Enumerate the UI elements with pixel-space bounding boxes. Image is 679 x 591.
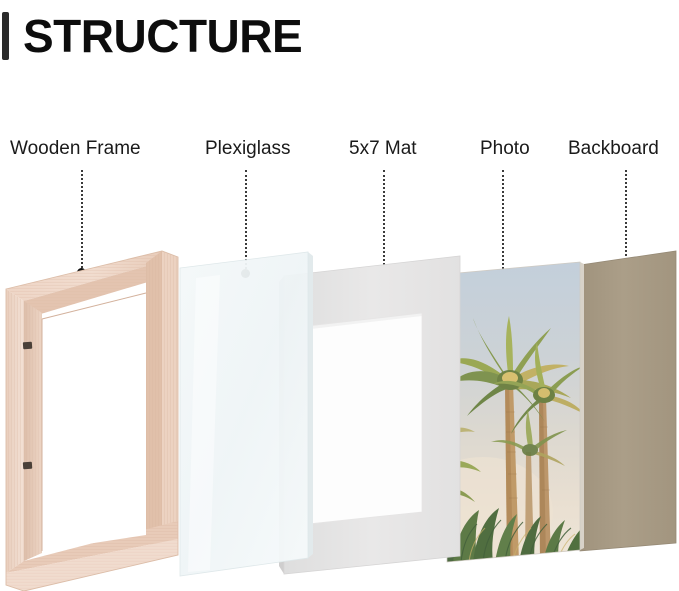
label-backboard: Backboard: [568, 139, 659, 158]
layer-backboard: [570, 251, 679, 568]
label-plexiglass: Plexiglass: [205, 139, 291, 158]
layer-plexiglass: [176, 252, 316, 591]
title-label: STRUCTURE: [23, 13, 302, 59]
layer-photo: [443, 262, 584, 571]
label-wooden-frame: Wooden Frame: [10, 139, 141, 158]
label-mat: 5x7 Mat: [349, 139, 417, 158]
label-photo: Photo: [480, 139, 530, 158]
layer-wooden-frame: [2, 243, 184, 591]
leader-line-photo: [502, 170, 504, 273]
title-accent-bar: [2, 12, 9, 60]
infographic-stage: STRUCTURE Wooden Frame Plexiglass 5x7 Ma…: [0, 0, 679, 591]
page-title: STRUCTURE: [0, 8, 302, 64]
